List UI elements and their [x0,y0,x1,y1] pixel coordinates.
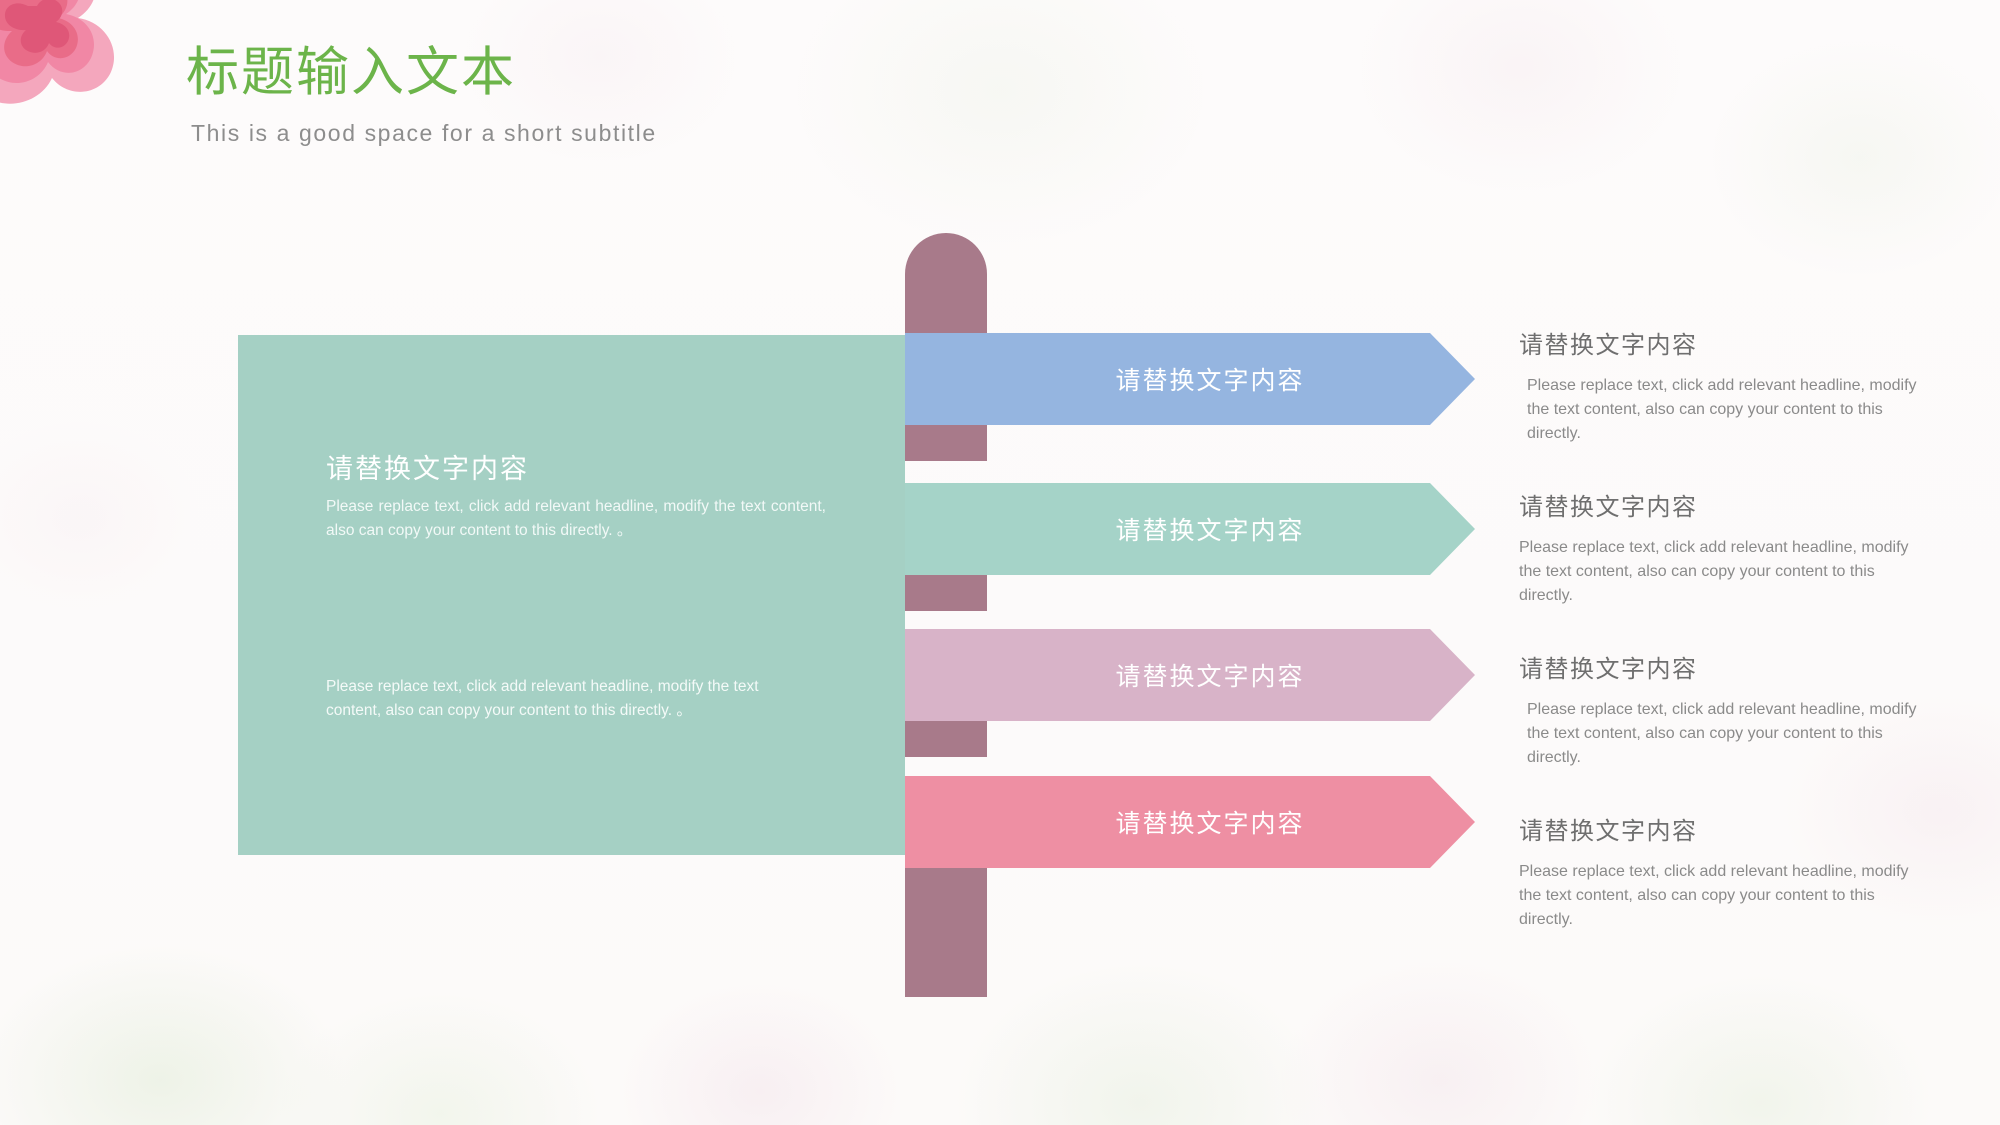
right-block-2-body: Please replace text, click add relevant … [1519,536,1919,608]
right-block-2-heading: 请替换文字内容 [1519,487,1919,522]
arrow-banner-3[interactable]: 请替换文字内容 [905,629,1475,721]
slide-header: 标题输入文本 This is a good space for a short … [186,40,657,147]
right-block-1-body: Please replace text, click add relevant … [1527,374,1919,446]
right-text-block-4[interactable]: 请替换文字内容 Please replace text, click add r… [1519,811,1919,932]
arrow-banner-2-label: 请替换文字内容 [1115,511,1304,547]
right-text-block-2[interactable]: 请替换文字内容 Please replace text, click add r… [1519,487,1919,608]
signpost-mast-segment-2 [905,575,987,611]
right-text-block-1[interactable]: 请替换文字内容 Please replace text, click add r… [1519,325,1919,446]
arrow-banner-3-label: 请替换文字内容 [1115,657,1304,693]
right-block-3-body: Please replace text, click add relevant … [1527,698,1919,770]
right-block-1-heading: 请替换文字内容 [1519,325,1919,360]
left-panel-paragraph-2: Please replace text, click add relevant … [326,675,809,723]
left-panel-heading: 请替换文字内容 [326,447,529,486]
right-text-column: 请替换文字内容 Please replace text, click add r… [1519,325,1919,932]
signpost-mast-segment-1 [905,425,987,461]
right-block-3-heading: 请替换文字内容 [1519,649,1919,684]
left-info-panel[interactable]: 请替换文字内容 Please replace text, click add r… [238,335,905,855]
arrow-banner-1[interactable]: 请替换文字内容 [905,333,1475,425]
page-title: 标题输入文本 [186,40,657,106]
page-subtitle: This is a good space for a short subtitl… [191,120,657,147]
signpost-mast-top [905,233,987,343]
signpost-mast-segment-3 [905,721,987,757]
right-block-4-heading: 请替换文字内容 [1519,811,1919,846]
arrow-banner-4[interactable]: 请替换文字内容 [905,776,1475,868]
arrow-banner-1-label: 请替换文字内容 [1115,361,1304,397]
right-text-block-3[interactable]: 请替换文字内容 Please replace text, click add r… [1519,649,1919,770]
arrow-banner-4-label: 请替换文字内容 [1115,804,1304,840]
right-block-4-body: Please replace text, click add relevant … [1519,860,1919,932]
left-panel-paragraph-1: Please replace text, click add relevant … [326,495,826,543]
arrow-banner-2[interactable]: 请替换文字内容 [905,483,1475,575]
